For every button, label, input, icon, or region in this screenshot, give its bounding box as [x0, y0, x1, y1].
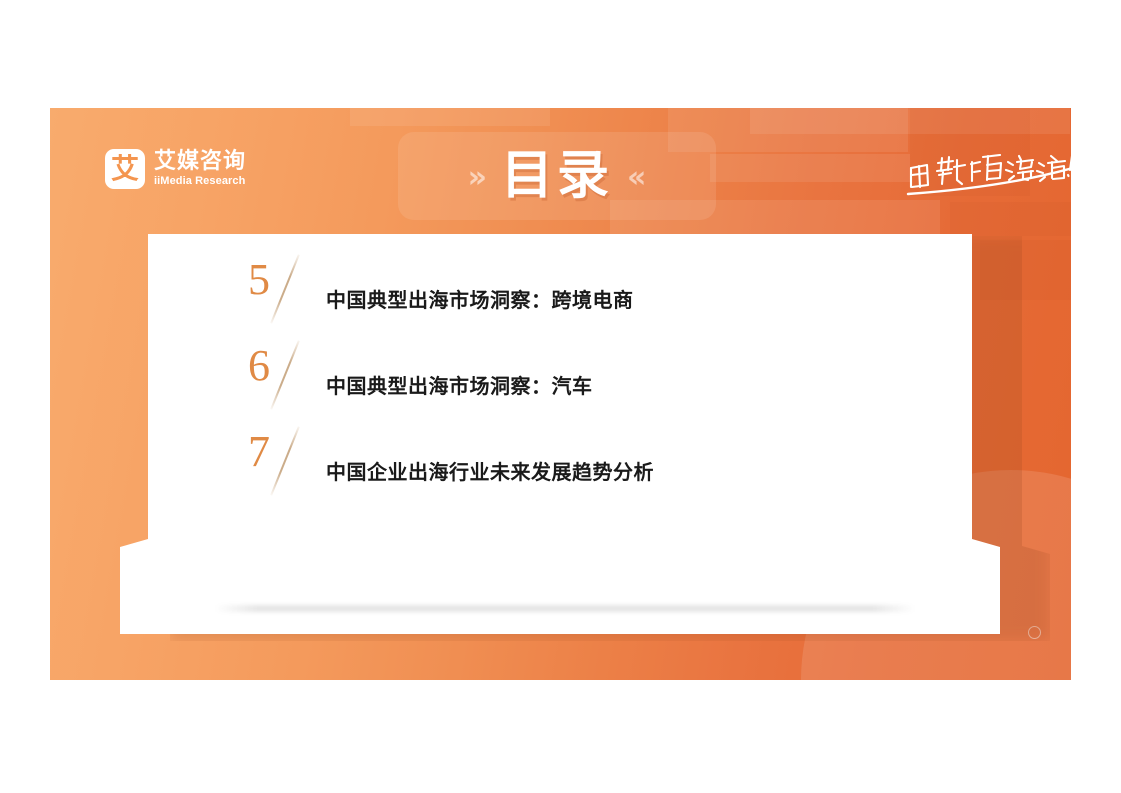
toc-slash-divider — [270, 340, 300, 409]
toc-slash-divider — [270, 426, 300, 495]
toc-label: 中国典型出海市场洞察：跨境电商 — [326, 284, 634, 313]
content-panel: 5 中国典型出海市场洞察：跨境电商 6 中国典型出海市场洞察：汽车 7 中国企业… — [120, 234, 1000, 634]
slide-canvas: 艾 艾媒咨询 iiMedia Research » 目录 « — [50, 108, 1071, 680]
brand-logo-text: 艾媒咨询 iiMedia Research — [154, 150, 246, 189]
toc-number: 7 — [248, 430, 270, 474]
brand-name-cn: 艾媒咨询 — [154, 150, 246, 174]
logo-mark-glyph: 艾 — [818, 644, 856, 681]
slide-header: 艾 艾媒咨询 iiMedia Research » 目录 « — [50, 108, 1071, 234]
slide-title-group: » 目录 « — [398, 132, 716, 220]
brand-name-en: iiMedia Research — [874, 670, 1000, 680]
chevron-right-icon: » — [468, 163, 487, 193]
toc-number: 5 — [248, 258, 270, 302]
brand-name-en: iiMedia Research — [154, 175, 246, 189]
toc-slash-divider — [270, 254, 300, 323]
toc-number: 6 — [248, 344, 270, 388]
page-title: 目录 — [501, 150, 613, 202]
logo-mark-glyph: 艾 — [111, 155, 139, 183]
brand-logo-footer: 艾 艾媒咨询 iiMedia Research — [810, 636, 1000, 680]
iimedia-logo-icon: 艾 — [105, 149, 145, 189]
list-item[interactable]: 6 中国典型出海市场洞察：汽车 — [248, 344, 968, 430]
brand-logo-header: 艾 艾媒咨询 iiMedia Research — [105, 149, 246, 189]
chevron-left-icon: « — [627, 163, 646, 193]
slogan-handwriting — [905, 154, 1071, 202]
list-item[interactable]: 5 中国典型出海市场洞察：跨境电商 — [248, 258, 968, 344]
brand-logo-text: 艾媒咨询 iiMedia Research — [874, 637, 1000, 680]
brand-name-cn: 艾媒咨询 — [874, 637, 1000, 669]
toc-label: 中国典型出海市场洞察：汽车 — [326, 370, 593, 399]
toc-label: 中国企业出海行业未来发展趋势分析 — [326, 456, 654, 485]
panel-bottom-divider — [215, 605, 915, 612]
list-item[interactable]: 7 中国企业出海行业未来发展趋势分析 — [248, 430, 968, 526]
iimedia-logo-icon: 艾 — [810, 636, 864, 680]
table-of-contents: 5 中国典型出海市场洞察：跨境电商 6 中国典型出海市场洞察：汽车 7 中国企业… — [248, 258, 968, 526]
